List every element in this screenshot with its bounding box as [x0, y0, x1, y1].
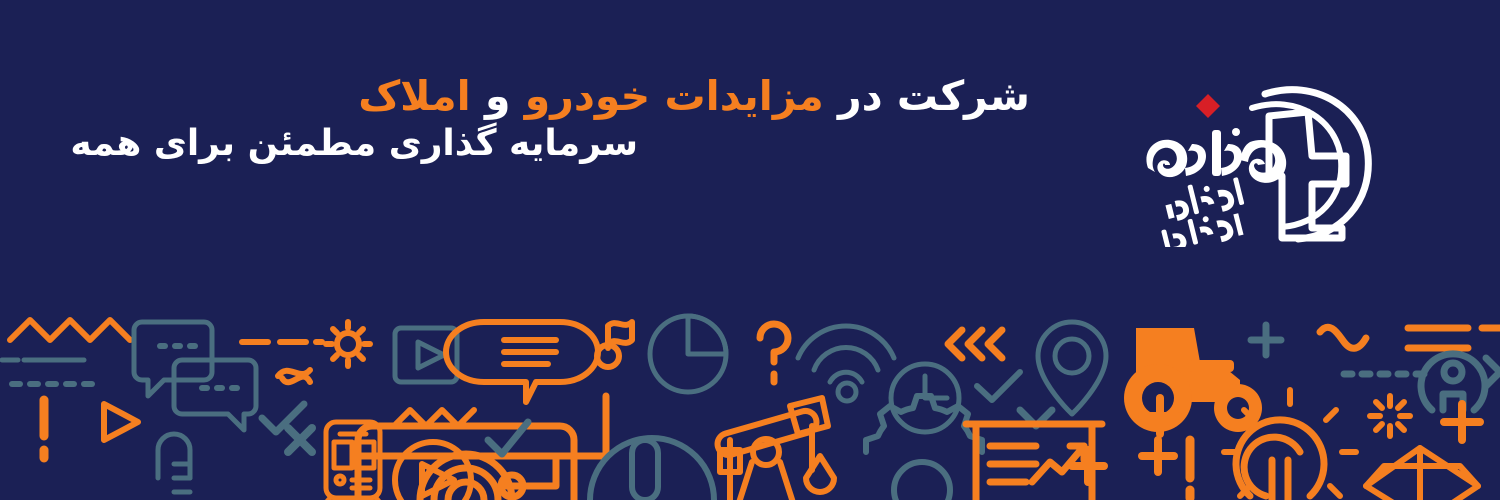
train-icon [318, 422, 388, 500]
chevron-right-icon [1486, 358, 1500, 386]
chevrons-left-icon [948, 330, 1002, 358]
sine-wave-icon [1320, 327, 1366, 348]
plus-icon [1251, 325, 1281, 355]
promo-banner: شرکت در مزایدات خودرو و املاک سرمایه گذا… [0, 0, 1500, 500]
page-title: شرکت در مزایدات خودرو و املاک [460, 72, 1030, 120]
sparkle-icon [1370, 396, 1410, 436]
headline-segment-white-2: و [471, 72, 525, 120]
logo-icon [1132, 72, 1382, 247]
chat-bubble-small-icon [174, 360, 256, 430]
headline-block: شرکت در مزایدات خودرو و املاک [460, 72, 1030, 120]
brand-logo [1132, 72, 1382, 247]
zigzag-icon [10, 320, 130, 340]
play-triangle-icon [418, 342, 444, 368]
step-line-icon [506, 396, 606, 486]
checkmark-icon [262, 404, 304, 432]
play-triangle-icon [104, 404, 138, 440]
gear-icon [866, 396, 982, 500]
thermometer-icon [158, 434, 190, 492]
page-subtitle: سرمایه گذاری مطمئن برای همه [70, 122, 638, 165]
oil-pump-icon [715, 398, 834, 500]
headline-segment-accent-1: مزایدات خودرو [525, 72, 824, 120]
logo-diamond-accent [1196, 94, 1220, 118]
equals-icon [1408, 328, 1500, 348]
headline-segment-white-1: شرکت در [824, 72, 1030, 120]
target-person-icon [1421, 354, 1485, 410]
open-box-icon [1366, 448, 1478, 500]
plus-icon [1142, 440, 1174, 472]
question-mark-icon [760, 324, 788, 362]
wifi-icon [798, 326, 894, 401]
decorative-icon-pattern [0, 300, 1500, 500]
location-pin-icon [1038, 322, 1106, 414]
sun-icon [326, 322, 370, 366]
checkmark-icon [977, 372, 1020, 400]
headline-segment-accent-2: املاک [358, 72, 471, 120]
close-icon [288, 428, 312, 452]
